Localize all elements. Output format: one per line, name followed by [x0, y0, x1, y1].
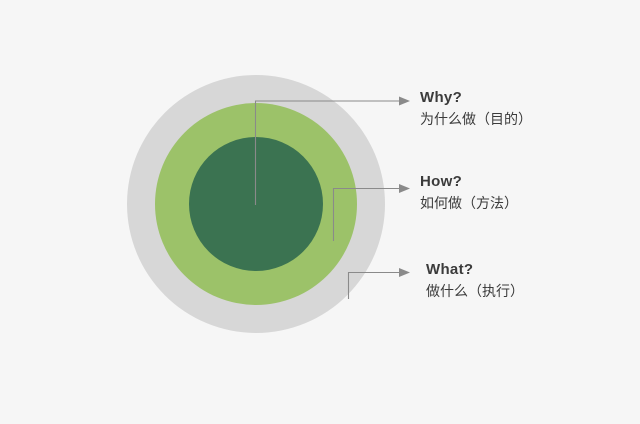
arrow-head-how: [399, 184, 410, 193]
label-how-title: How?: [420, 174, 518, 189]
label-why-subtitle: 为什么做（目的）: [420, 112, 532, 126]
label-what-subtitle: 做什么（执行）: [426, 284, 524, 298]
label-what-title: What?: [426, 262, 524, 277]
diagram-canvas: Why? 为什么做（目的） How? 如何做（方法） What? 做什么（执行）: [0, 0, 640, 424]
label-why-title: Why?: [420, 90, 532, 105]
label-how-subtitle: 如何做（方法）: [420, 196, 518, 210]
arrow-head-why: [399, 97, 410, 106]
label-what: What? 做什么（执行）: [426, 262, 524, 298]
inner-circle-why: [189, 137, 323, 271]
arrow-head-what: [399, 268, 410, 277]
label-how: How? 如何做（方法）: [420, 174, 518, 210]
label-why: Why? 为什么做（目的）: [420, 90, 532, 126]
